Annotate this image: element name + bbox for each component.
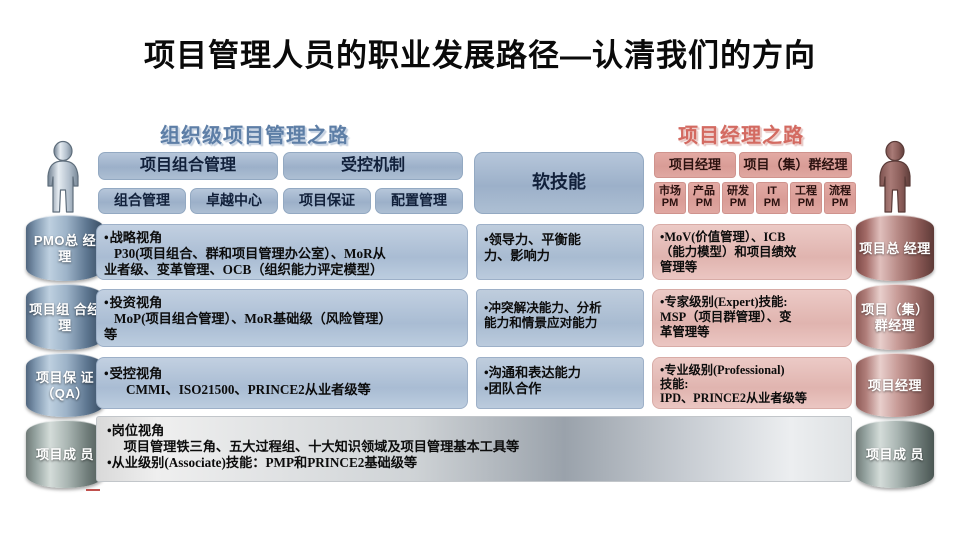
chip-product-pm[interactable]: 产品 PM xyxy=(688,182,720,214)
slide-canvas: 项目管理人员的职业发展路径—认清我们的方向 组织级项目管理之路 项目经理之路 xyxy=(0,0,960,540)
panel-bottom-row: •岗位视角 项目管理铁三角、五大过程组、十大知识领域及项目管理基本工具等 •从业… xyxy=(96,416,852,482)
panel-right-row-1-line-3: 管理等 xyxy=(660,260,843,275)
banner-right-track: 项目经理之路 xyxy=(678,119,804,148)
panel-right-row-1-line-2: （能力模型）和项目绩效 xyxy=(660,245,843,260)
decorative-red-mark xyxy=(86,489,100,491)
chip-program-manager[interactable]: 项目（集）群经理 xyxy=(739,152,852,178)
panel-right-row-2-line-2: MSP（项目群管理）、变 xyxy=(660,310,843,325)
banner-left-track: 组织级项目管理之路 xyxy=(160,119,349,148)
panel-middle-row-2-line-2: 能力和情景应对能力 xyxy=(484,316,635,331)
panel-left-row-3: 受控视角 CMMI、ISO21500、PRINCE2从业者级等 xyxy=(96,357,468,409)
pillar-right-1-label: 项目总 经理 xyxy=(857,241,933,256)
pillar-right-1[interactable]: 项目总 经理 xyxy=(856,215,934,281)
chip-controlled-mechanism[interactable]: 受控机制 xyxy=(283,152,463,180)
chip-portfolio-management[interactable]: 项目组合管理 xyxy=(98,152,278,180)
pillar-left-1[interactable]: PMO总 经理 xyxy=(26,215,104,281)
panel-middle-row-3-line-2: •团队合作 xyxy=(484,381,635,397)
panel-right-row-3: •专业级别(Professional) 技能: IPD、PRINCE2从业者级等 xyxy=(652,357,852,409)
panel-middle-row-3: •沟通和表达能力 •团队合作 xyxy=(476,357,644,409)
chip-market-pm[interactable]: 市场 PM xyxy=(654,182,686,214)
panel-left-row-1-line-2: 业者级、变革管理、OCB（组织能力评定模型） xyxy=(104,262,459,278)
panel-right-row-3-line-2: 技能: xyxy=(660,377,843,391)
panel-middle-row-1: •领导力、平衡能 力、影响力 xyxy=(476,224,644,280)
panel-left-row-2-line-2: 等 xyxy=(104,327,459,343)
chip-it-pm-l2: PM xyxy=(764,198,781,210)
panel-middle-row-3-line-1: •沟通和表达能力 xyxy=(484,365,635,381)
person-icon-right xyxy=(872,140,918,214)
pillar-left-4-label: 项目成 员 xyxy=(34,447,96,462)
chip-product-pm-l2: PM xyxy=(696,198,713,210)
panel-middle-row-2-line-1: •冲突解决能力、分析 xyxy=(484,301,635,316)
chip-engineering-pm-l2: PM xyxy=(798,198,815,210)
panel-right-row-1: •MoV(价值管理）、ICB （能力模型）和项目绩效 管理等 xyxy=(652,224,852,280)
panel-middle-row-1-line-1: •领导力、平衡能 xyxy=(484,232,635,248)
chip-engineering-pm[interactable]: 工程 PM xyxy=(790,182,822,214)
chip-configuration-management[interactable]: 配置管理 xyxy=(375,188,463,214)
chip-process-pm-l2: PM xyxy=(832,198,849,210)
chip-project-assurance[interactable]: 项目保证 xyxy=(283,188,371,214)
chip-soft-skills[interactable]: 软技能 xyxy=(474,152,644,214)
panel-bottom-line-1: •岗位视角 xyxy=(107,423,841,439)
chip-market-pm-l2: PM xyxy=(662,198,679,210)
pillar-right-2-label: 项目（集） 群经理 xyxy=(856,302,934,333)
panel-right-row-2-line-1: •专家级别(Expert)技能: xyxy=(660,295,843,310)
pillar-left-3-label: 项目保 证（QA） xyxy=(26,370,104,401)
pillar-left-1-label: PMO总 经理 xyxy=(26,233,104,264)
panel-right-row-3-line-3: IPD、PRINCE2从业者级等 xyxy=(660,391,843,405)
chip-combination-management[interactable]: 组合管理 xyxy=(98,188,186,214)
panel-left-row-2-heading: 投资视角 xyxy=(104,295,459,311)
panel-left-row-3-heading: 受控视角 xyxy=(104,366,459,382)
chip-project-manager[interactable]: 项目经理 xyxy=(654,152,736,178)
panel-left-row-2-line-1: MoP(项目组合管理）、MoR基础级（风险管理） xyxy=(104,311,459,327)
chip-rnd-pm-l2: PM xyxy=(730,198,747,210)
chip-rnd-pm[interactable]: 研发 PM xyxy=(722,182,754,214)
panel-right-row-2: •专家级别(Expert)技能: MSP（项目群管理）、变 革管理等 xyxy=(652,289,852,347)
pillar-left-4[interactable]: 项目成 员 xyxy=(26,420,104,488)
panel-left-row-3-line-1: CMMI、ISO21500、PRINCE2从业者级等 xyxy=(104,382,459,398)
panel-left-row-2: 投资视角 MoP(项目组合管理）、MoR基础级（风险管理） 等 xyxy=(96,289,468,347)
pillar-right-3[interactable]: 项目经理 xyxy=(856,353,934,417)
panel-right-row-1-line-1: •MoV(价值管理）、ICB xyxy=(660,230,843,245)
panel-left-row-1: 战略视角 P30(项目组合、群和项目管理办公室）、MoR从 业者级、变革管理、O… xyxy=(96,224,468,280)
chip-center-of-excellence[interactable]: 卓越中心 xyxy=(190,188,278,214)
chip-process-pm[interactable]: 流程 PM xyxy=(824,182,856,214)
panel-right-row-2-line-3: 革管理等 xyxy=(660,325,843,340)
panel-middle-row-2: •冲突解决能力、分析 能力和情景应对能力 xyxy=(476,289,644,347)
panel-middle-row-1-line-2: 力、影响力 xyxy=(484,248,635,264)
page-title: 项目管理人员的职业发展路径—认清我们的方向 xyxy=(0,30,960,75)
panel-left-row-1-line-1: P30(项目组合、群和项目管理办公室）、MoR从 xyxy=(104,246,459,262)
pillar-right-4[interactable]: 项目成 员 xyxy=(856,420,934,488)
panel-bottom-line-2: 项目管理铁三角、五大过程组、十大知识领域及项目管理基本工具等 xyxy=(107,439,841,455)
pillar-left-2[interactable]: 项目组 合经理 xyxy=(26,284,104,350)
pillar-right-3-label: 项目经理 xyxy=(866,378,924,393)
pillar-right-2[interactable]: 项目（集） 群经理 xyxy=(856,284,934,350)
pillar-left-2-label: 项目组 合经理 xyxy=(26,302,104,333)
panel-right-row-3-line-1: •专业级别(Professional) xyxy=(660,363,843,377)
panel-bottom-line-3: •从业级别(Associate)技能：PMP和PRINCE2基础级等 xyxy=(107,455,841,471)
pillar-right-4-label: 项目成 员 xyxy=(864,447,926,462)
chip-it-pm[interactable]: IT PM xyxy=(756,182,788,214)
pillar-left-3[interactable]: 项目保 证（QA） xyxy=(26,353,104,417)
person-icon-left xyxy=(40,140,86,214)
panel-left-row-1-heading: 战略视角 xyxy=(104,230,459,246)
